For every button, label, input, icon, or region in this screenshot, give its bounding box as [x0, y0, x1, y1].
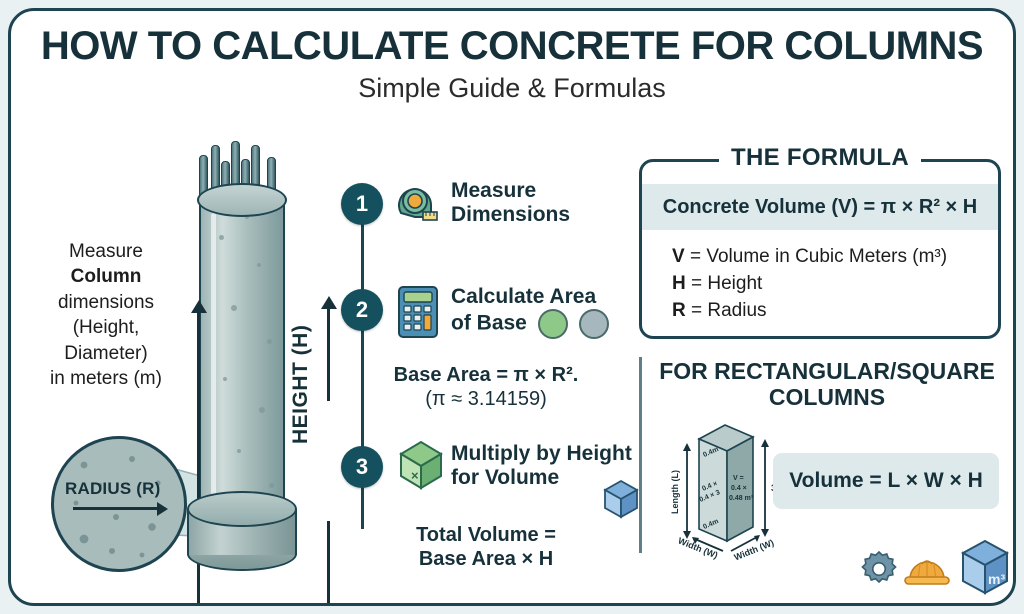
column-shaft: [199, 201, 285, 521]
rectangular-column-box: 0.4m 0.4m 0.4 × 0.4 × 3 V = 0.4 × 0.48 m…: [661, 417, 791, 557]
rectangular-columns-panel: FOR RECTANGULAR/SQUARE COLUMNS: [639, 359, 1007, 559]
legend-row-r: R = Radius: [672, 298, 947, 325]
box-label-calc-v2: 0.4 ×: [731, 485, 747, 492]
gray-circle-icon: [579, 309, 609, 339]
radius-arrow-magnified: [73, 507, 159, 510]
measure-line-4: Diameter): [64, 343, 147, 364]
legend-row-h: H = Height: [672, 271, 947, 298]
box-label-length: Length (L): [670, 470, 680, 514]
rect-volume-formula: Volume = L × W × H: [773, 453, 999, 509]
hard-hat-icon: [903, 551, 951, 594]
column-diagram: Measure Column dimensions (Height, Diame…: [25, 139, 355, 599]
bottom-icon-row: m³: [859, 535, 1009, 601]
legend-symbol-h: H: [672, 273, 686, 294]
rect-title-line2: COLUMNS: [769, 384, 885, 410]
step-2-formula-line1: Base Area = π × R².: [394, 364, 579, 386]
step-2-number: 2: [341, 289, 383, 331]
header: HOW TO CALCULATE CONCRETE FOR COLUMNS Si…: [11, 25, 1013, 104]
legend-def-v: = Volume in Cubic Meters (m³): [690, 246, 947, 267]
radius-magnified-label: RADIUS (R): [65, 479, 161, 499]
panel-divider: [639, 357, 642, 553]
green-circle-icon: [538, 309, 568, 339]
step-2-label: Calculate Area of Base: [451, 285, 631, 339]
page-subtitle: Simple Guide & Formulas: [11, 73, 1013, 104]
formula-legend: V = Volume in Cubic Meters (m³) H = Heig…: [672, 244, 947, 325]
formula-panel-title-wrap: THE FORMULA: [639, 144, 1001, 172]
column-top-ellipse: [197, 183, 287, 217]
cubic-meter-cube-icon: m³: [957, 537, 1013, 604]
step-3-number: 3: [341, 446, 383, 488]
step-2-formula-line2: (π ≈ 3.14159): [425, 388, 547, 410]
step-3-formula: Total Volume = Base Area × H: [341, 523, 631, 572]
step-1-label-line2: Dimensions: [451, 203, 570, 226]
legend-def-r: = Radius: [691, 300, 767, 321]
step-1-number: 1: [341, 183, 383, 225]
box-label-calc-v3: 0.48 m³: [729, 495, 753, 502]
legend-row-v: V = Volume in Cubic Meters (m³): [672, 244, 947, 271]
rect-panel-title: FOR RECTANGULAR/SQUARE COLUMNS: [647, 359, 1007, 411]
measure-line-2: dimensions: [58, 292, 154, 313]
main-formula: Concrete Volume (V) = π × R² × H: [642, 184, 998, 230]
step-1-label: Measure Dimensions: [451, 179, 631, 227]
formula-panel-title: THE FORMULA: [719, 144, 921, 171]
blue-cube-icon: [599, 476, 643, 527]
svg-text:m³: m³: [988, 571, 1005, 587]
legend-symbol-r: R: [672, 300, 686, 321]
measure-line-3: (Height,: [73, 317, 140, 338]
legend-symbol-v: V: [672, 246, 685, 267]
measure-line-5: in meters (m): [50, 368, 162, 389]
measure-line-bold: Column: [71, 266, 142, 287]
step-2-label-line1: Calculate Area: [451, 285, 596, 308]
legend-def-h: = Height: [691, 273, 762, 294]
steps-list: 1 Measure Dimensions 2: [341, 171, 631, 591]
formula-panel: Concrete Volume (V) = π × R² × H V = Vol…: [639, 159, 1001, 339]
measure-instructions: Measure Column dimensions (Height, Diame…: [31, 239, 181, 392]
step-3-formula-line2: Base Area × H: [419, 548, 553, 570]
page-title: HOW TO CALCULATE CONCRETE FOR COLUMNS: [11, 25, 1013, 67]
step-3-formula-line1: Total Volume =: [416, 524, 556, 546]
svg-text:×: ×: [411, 468, 419, 483]
step-2-formula: Base Area = π × R². (π ≈ 3.14159): [341, 363, 631, 412]
rect-title-line1: FOR RECTANGULAR/SQUARE: [659, 358, 995, 384]
green-cube-multiply-icon: ×: [393, 436, 443, 486]
tape-measure-icon: [393, 179, 443, 229]
box-label-calc-v1: V =: [733, 475, 744, 482]
infographic-canvas: HOW TO CALCULATE CONCRETE FOR COLUMNS Si…: [8, 8, 1016, 606]
column-base-top: [187, 491, 297, 527]
step-3-label-line2: for Volume: [451, 466, 559, 489]
step-3-label-line1: Multiply by Height: [451, 442, 632, 465]
step-1-label-line1: Measure: [451, 179, 536, 202]
height-label: HEIGHT (H): [289, 325, 313, 444]
measure-line-1: Measure: [69, 241, 143, 262]
step-2-label-line2: of Base: [451, 311, 527, 334]
calculator-icon: [393, 285, 443, 335]
gear-icon: [859, 549, 899, 594]
